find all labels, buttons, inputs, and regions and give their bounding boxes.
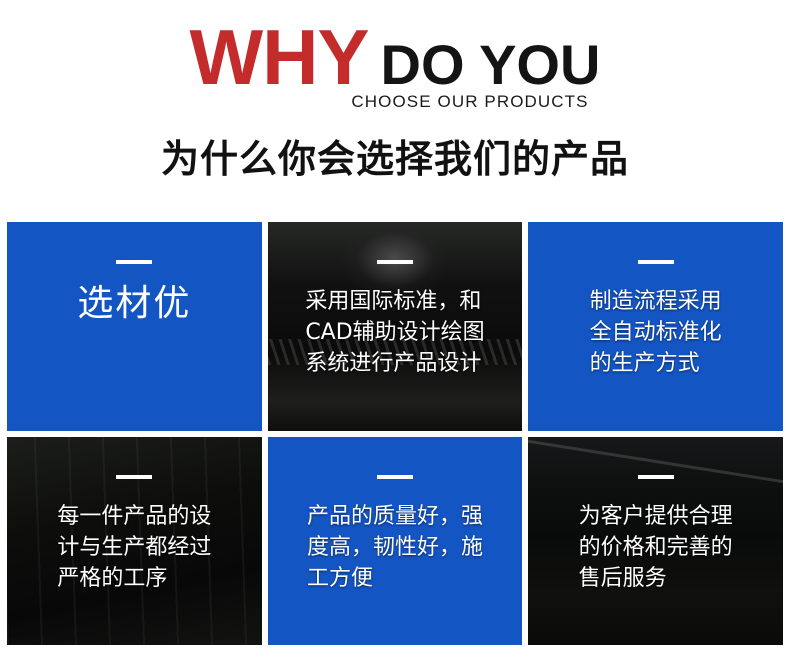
feature-card-standards[interactable]: 采用国际标准，和 CAD辅助设计绘图 系统进行产品设计	[268, 222, 523, 431]
feature-grid: 选材优 采用国际标准，和 CAD辅助设计绘图 系统进行产品设计 制造流程采用 全…	[7, 222, 783, 645]
headline-group: WHYDO YOU	[0, 18, 790, 96]
feature-card-service[interactable]: 为客户提供合理 的价格和完善的 售后服务	[528, 437, 783, 646]
divider-dash-icon	[638, 260, 674, 264]
headline-why-text: WHY	[190, 18, 369, 96]
divider-dash-icon	[638, 475, 674, 479]
feature-card-text: 产品的质量好，强 度高，韧性好，施 工方便	[307, 501, 483, 595]
divider-dash-icon	[116, 475, 152, 479]
feature-card-text: 每一件产品的设 计与生产都经过 严格的工序	[57, 501, 211, 595]
divider-dash-icon	[377, 475, 413, 479]
feature-card-text: 选材优	[77, 282, 191, 325]
divider-dash-icon	[116, 260, 152, 264]
feature-card-text: 采用国际标准，和 CAD辅助设计绘图 系统进行产品设计	[305, 286, 484, 380]
headline-doyou-text: DO YOU	[381, 37, 601, 93]
banner-header: WHYDO YOU CHOOSE OUR PRODUCTS 为什么你会选择我们的…	[0, 0, 790, 215]
feature-card-automation[interactable]: 制造流程采用 全自动标准化 的生产方式	[528, 222, 783, 431]
feature-card-quality[interactable]: 产品的质量好，强 度高，韧性好，施 工方便	[268, 437, 523, 646]
promo-banner-page: WHYDO YOU CHOOSE OUR PRODUCTS 为什么你会选择我们的…	[0, 0, 790, 665]
feature-card-material[interactable]: 选材优	[7, 222, 262, 431]
subheadline-chinese: 为什么你会选择我们的产品	[0, 128, 790, 183]
subheadline-english: CHOOSE OUR PRODUCTS	[0, 92, 790, 112]
divider-dash-icon	[377, 260, 413, 264]
feature-card-process[interactable]: 每一件产品的设 计与生产都经过 严格的工序	[7, 437, 262, 646]
feature-card-text: 制造流程采用 全自动标准化 的生产方式	[590, 286, 722, 380]
feature-card-text: 为客户提供合理 的价格和完善的 售后服务	[579, 501, 733, 595]
